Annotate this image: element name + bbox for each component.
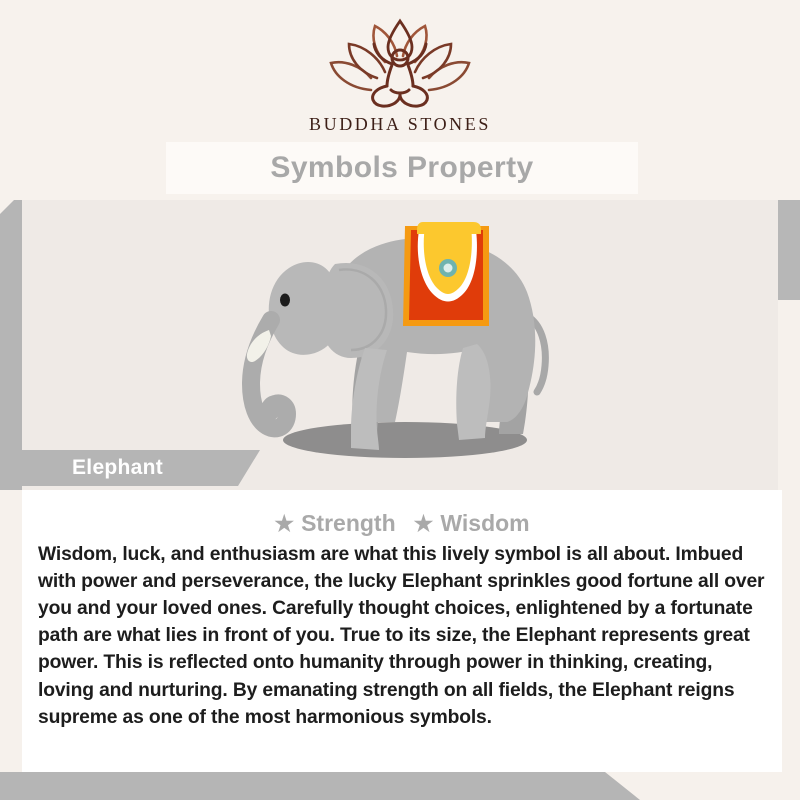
symbols-property-card: BUDDHA STONES Symbols Property xyxy=(0,0,800,800)
star-icon: ★ xyxy=(274,513,294,535)
decor-left-tab xyxy=(0,200,22,490)
trait-wisdom-label: Wisdom xyxy=(440,510,529,537)
page-title: Symbols Property xyxy=(270,151,533,185)
trait-strength-label: Strength xyxy=(301,510,396,537)
symbol-name-label: Elephant xyxy=(72,456,163,480)
walking-elephant-with-saddle-illustration xyxy=(227,208,567,473)
header: BUDDHA STONES Symbols Property xyxy=(0,0,800,200)
star-icon: ★ xyxy=(414,513,434,535)
trait-wisdom: ★ Wisdom xyxy=(414,510,530,537)
page-title-band: Symbols Property xyxy=(166,142,638,194)
decor-bottom-bar xyxy=(0,772,640,800)
symbol-name-banner: Elephant xyxy=(22,450,260,486)
description-text: Wisdom, luck, and enthusiasm are what th… xyxy=(22,539,782,731)
hero-stage xyxy=(22,200,778,490)
lotus-meditation-figure-icon xyxy=(325,18,475,110)
brand-name: BUDDHA STONES xyxy=(309,114,491,135)
brand-logo: BUDDHA STONES xyxy=(0,18,800,135)
trait-strength: ★ Strength xyxy=(274,510,395,537)
description-panel: ★ Strength ★ Wisdom Wisdom, luck, and en… xyxy=(22,490,782,772)
trait-list: ★ Strength ★ Wisdom xyxy=(22,490,782,537)
